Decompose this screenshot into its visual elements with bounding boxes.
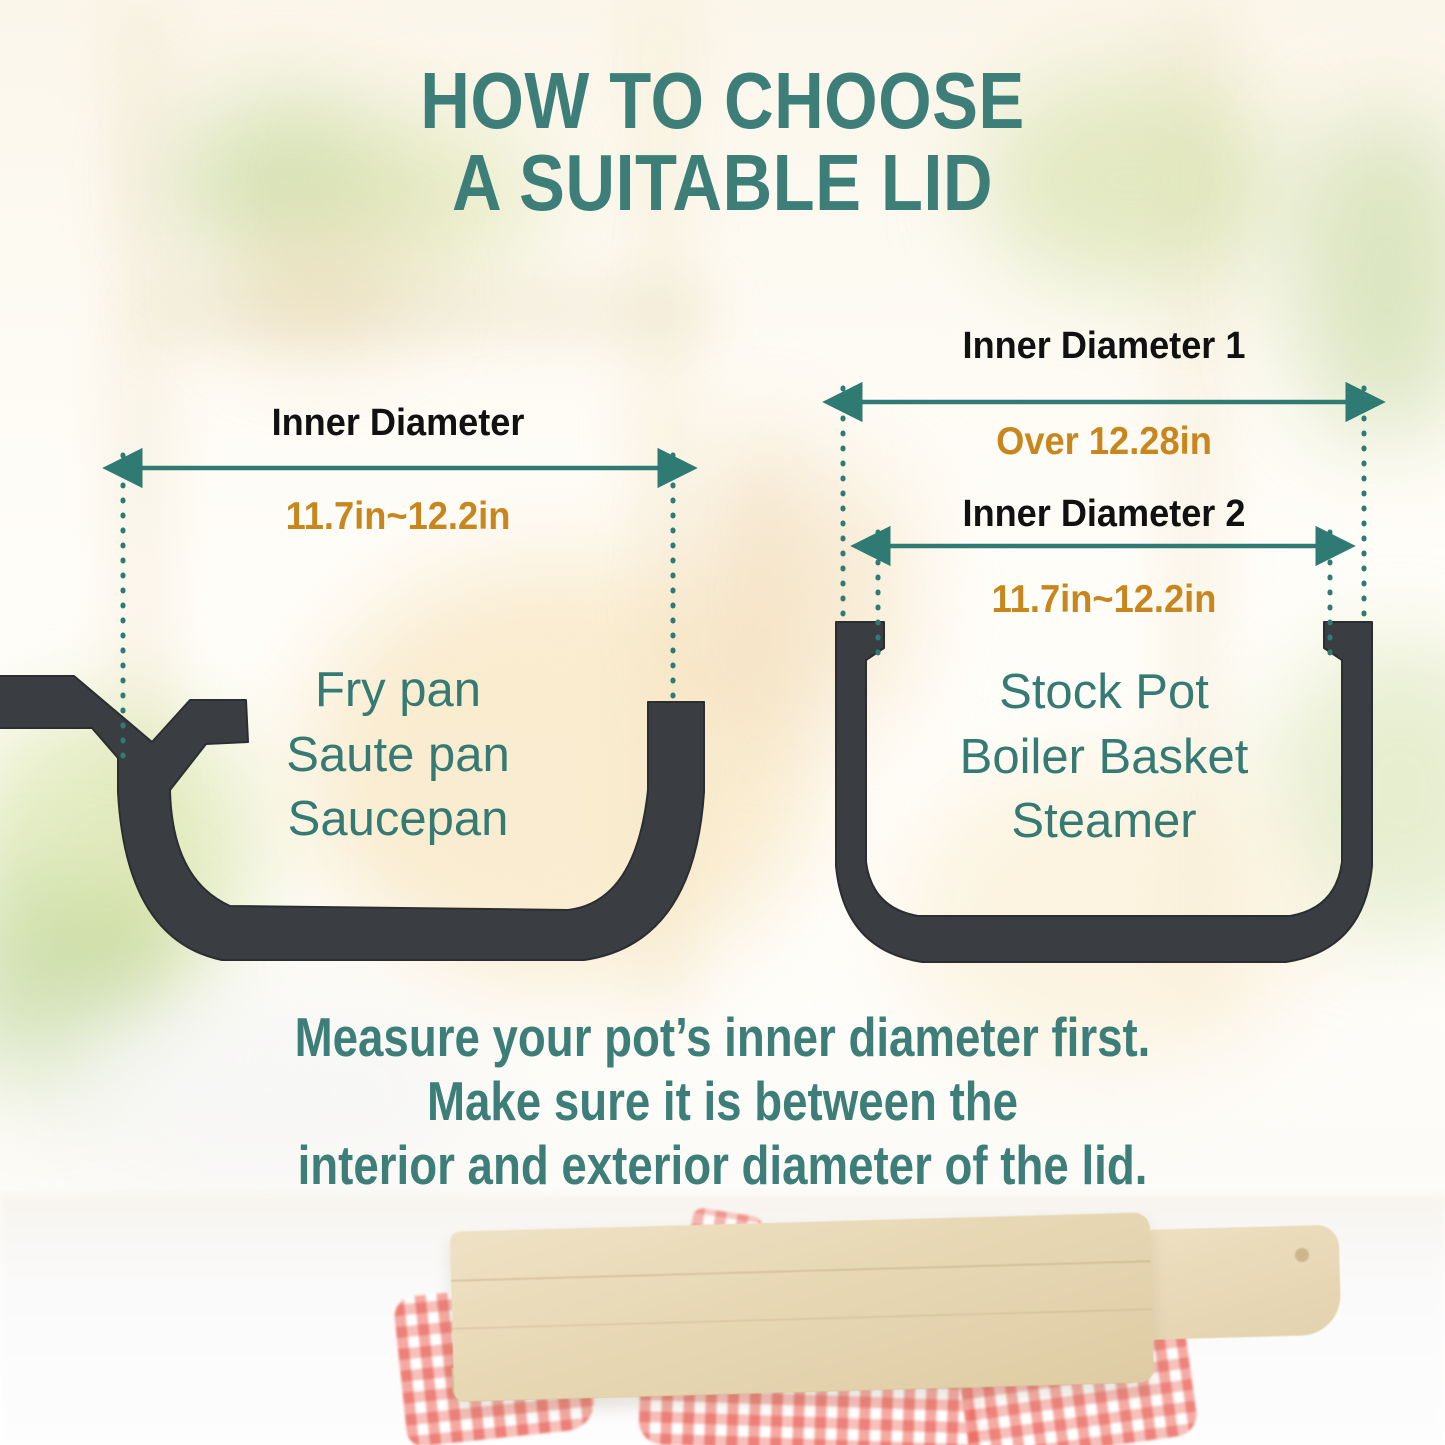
right-pot-name-2: Boiler Basket bbox=[843, 725, 1365, 790]
right-pot-names: Stock Pot Boiler Basket Steamer bbox=[843, 660, 1365, 854]
infographic-canvas: HOW TO CHOOSE A SUITABLE LID bbox=[0, 0, 1445, 1445]
left-pot-name-1: Fry pan bbox=[123, 658, 673, 723]
footer-line-3: interior and exterior diameter of the li… bbox=[123, 1134, 1322, 1198]
footer-instruction: Measure your pot’s inner diameter first.… bbox=[123, 1006, 1322, 1197]
left-measure-value: 11.7in~12.2in bbox=[142, 495, 654, 539]
footer-line-2: Make sure it is between the bbox=[123, 1070, 1322, 1134]
right-pot-name-1: Stock Pot bbox=[843, 660, 1365, 725]
right-measure-label-1: Inner Diameter 1 bbox=[856, 325, 1352, 368]
right-measure-value-2: 11.7in~12.2in bbox=[861, 578, 1346, 622]
left-measure-label: Inner Diameter bbox=[137, 402, 660, 445]
right-measure-label-2: Inner Diameter 2 bbox=[856, 493, 1352, 536]
right-pot-name-3: Steamer bbox=[843, 789, 1365, 854]
right-measure-value-1: Over 12.28in bbox=[861, 420, 1346, 464]
left-pot-names: Fry pan Saute pan Saucepan bbox=[123, 658, 673, 852]
left-pot-name-3: Saucepan bbox=[123, 787, 673, 852]
left-pot-name-2: Saute pan bbox=[123, 723, 673, 788]
footer-line-1: Measure your pot’s inner diameter first. bbox=[123, 1006, 1322, 1070]
